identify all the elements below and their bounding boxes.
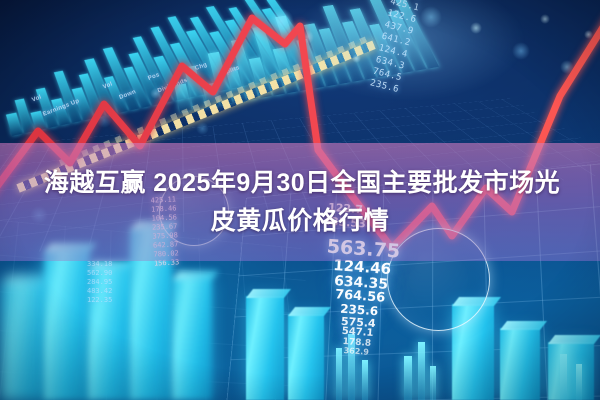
candle-bar xyxy=(430,366,436,400)
candle-bar xyxy=(576,364,582,400)
ticker-number: 284.95 xyxy=(87,278,112,287)
candle-bar xyxy=(348,334,355,400)
candle-bar xyxy=(404,356,412,400)
ticker-number: 122.35 xyxy=(87,296,112,305)
banner-image: Earnings UpDownDividendsSplitsVolPosChgV… xyxy=(0,0,600,400)
foreground-bar xyxy=(246,296,284,400)
candle-bar xyxy=(418,342,425,400)
ticker-number-column-bottom-left: 334.18562.90284.95483.42122.35 xyxy=(87,260,112,305)
candle-bar xyxy=(336,348,342,400)
foreground-bar xyxy=(548,342,594,400)
foreground-bar xyxy=(44,250,90,400)
ticker-number: 334.18 xyxy=(87,260,112,269)
candle-bar xyxy=(560,354,567,400)
title-line-1: 海越互赢 2025年9月30日全国主要批发市场光 xyxy=(40,164,560,202)
foreground-bar xyxy=(288,314,324,400)
candle-bar xyxy=(362,360,368,400)
foreground-bar xyxy=(172,278,212,400)
title-block: 海越互赢 2025年9月30日全国主要批发市场光 皮黄瓜价格行情 xyxy=(0,143,600,261)
ticker-number: 562.90 xyxy=(87,269,112,278)
title-line-2: 皮黄瓜价格行情 xyxy=(211,202,390,240)
ticker-number: 483.42 xyxy=(87,287,112,296)
foreground-bar xyxy=(500,328,540,400)
